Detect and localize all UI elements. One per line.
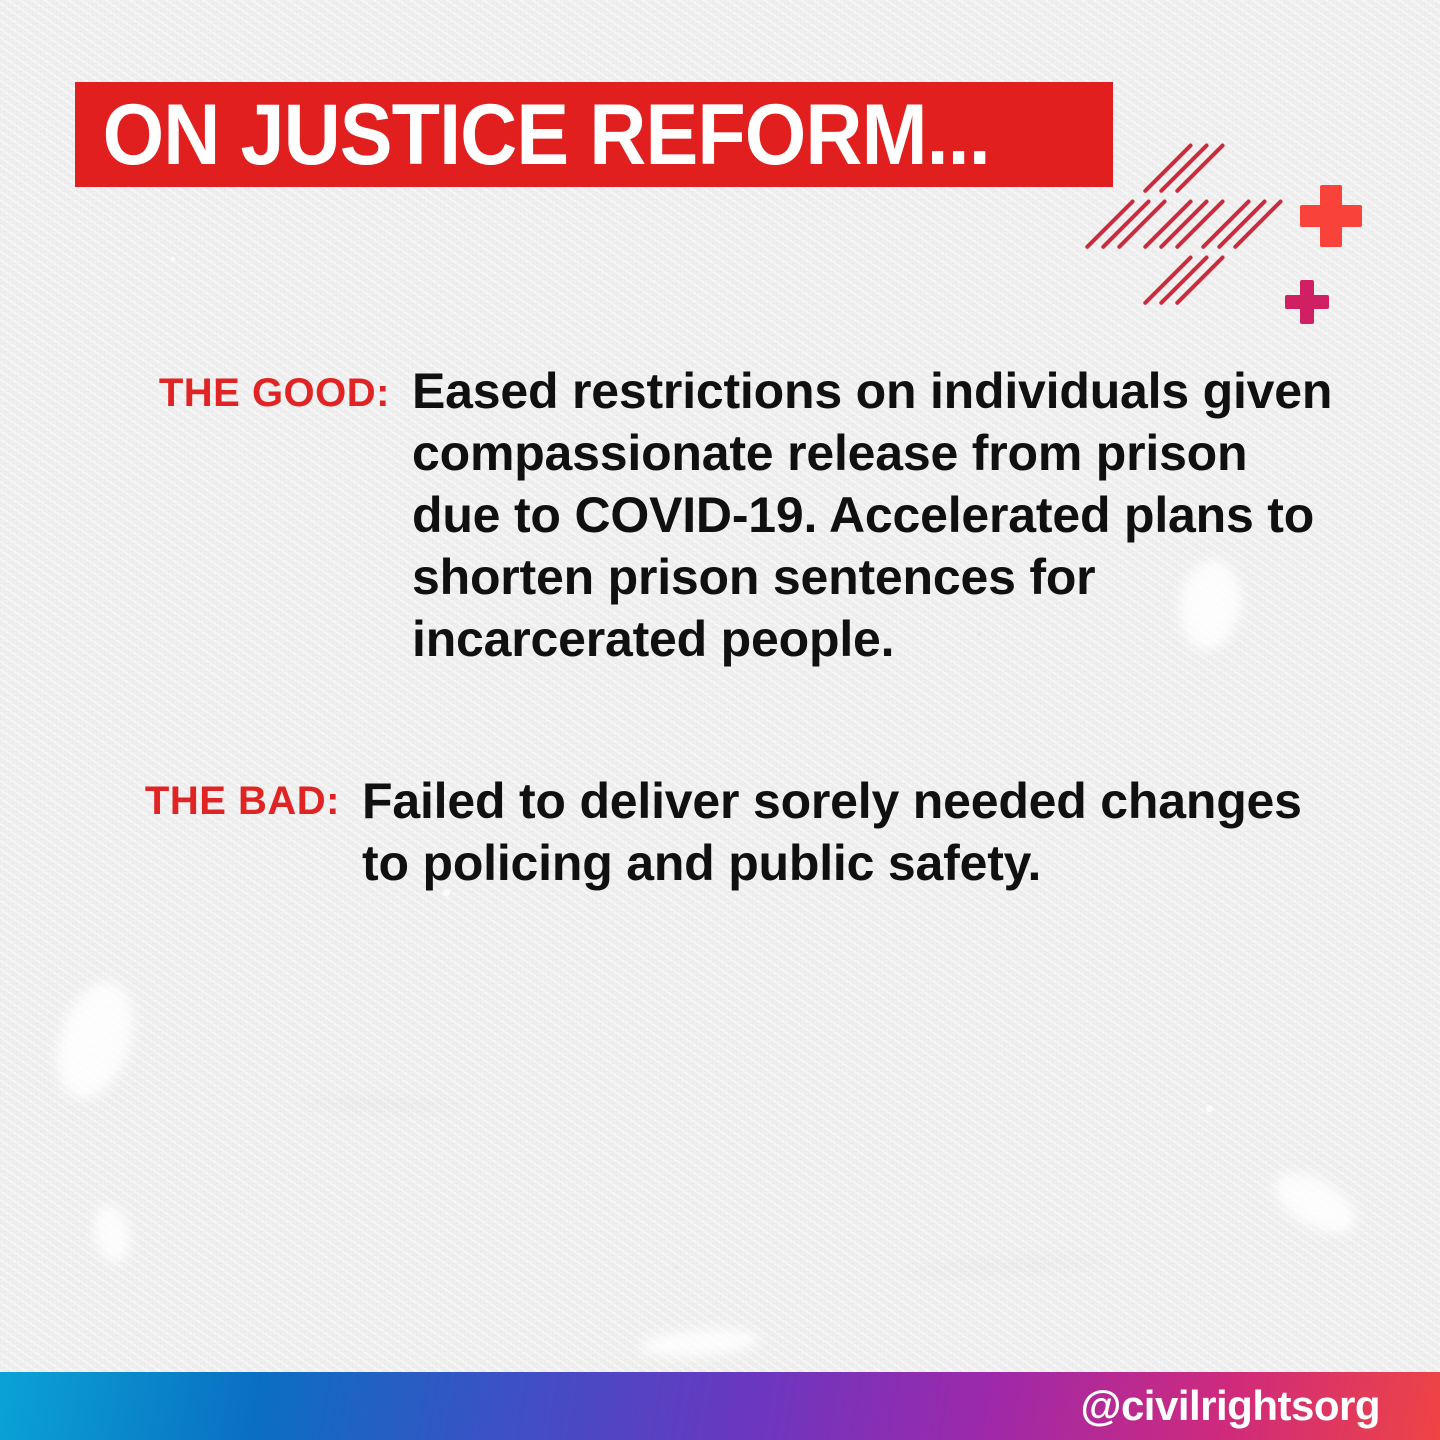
label-the-bad: THE BAD: — [90, 770, 340, 826]
hatch-lines-left — [1100, 196, 1156, 252]
decoration-group — [1090, 130, 1440, 340]
section-the-good: THE GOOD: Eased restrictions on individu… — [90, 360, 1370, 670]
texture-smudge — [300, 1097, 460, 1113]
hatch-lines-right — [1216, 196, 1272, 252]
footer-handle: @civilrightsorg — [1080, 1382, 1440, 1430]
texture-smudge — [89, 1202, 134, 1266]
title-banner: ON JUSTICE REFORM... — [75, 82, 1113, 187]
texture-smudge — [1265, 1161, 1366, 1246]
hatch-lines-center — [1158, 196, 1214, 252]
paper-texture-overlay — [0, 0, 1440, 1440]
hatch-lines-top — [1158, 140, 1214, 196]
page-title: ON JUSTICE REFORM... — [75, 92, 990, 178]
plus-large-icon — [1300, 185, 1362, 247]
section-the-bad: THE BAD: Failed to deliver sorely needed… — [90, 770, 1370, 894]
footer-bar: @civilrightsorg — [0, 1372, 1440, 1440]
hatch-lines-bottom — [1158, 252, 1214, 308]
texture-smudge — [639, 1326, 761, 1360]
body-the-good: Eased restrictions on individuals given … — [390, 360, 1342, 670]
texture-smudge — [43, 972, 147, 1108]
label-the-good: THE GOOD: — [90, 360, 390, 418]
texture-smudge — [900, 1255, 1110, 1278]
justice-reform-graphic: ON JUSTICE REFORM... THE GOOD: Eased res… — [0, 0, 1440, 1440]
plus-small-icon — [1285, 280, 1329, 324]
body-the-bad: Failed to deliver sorely needed changes … — [340, 770, 1322, 894]
